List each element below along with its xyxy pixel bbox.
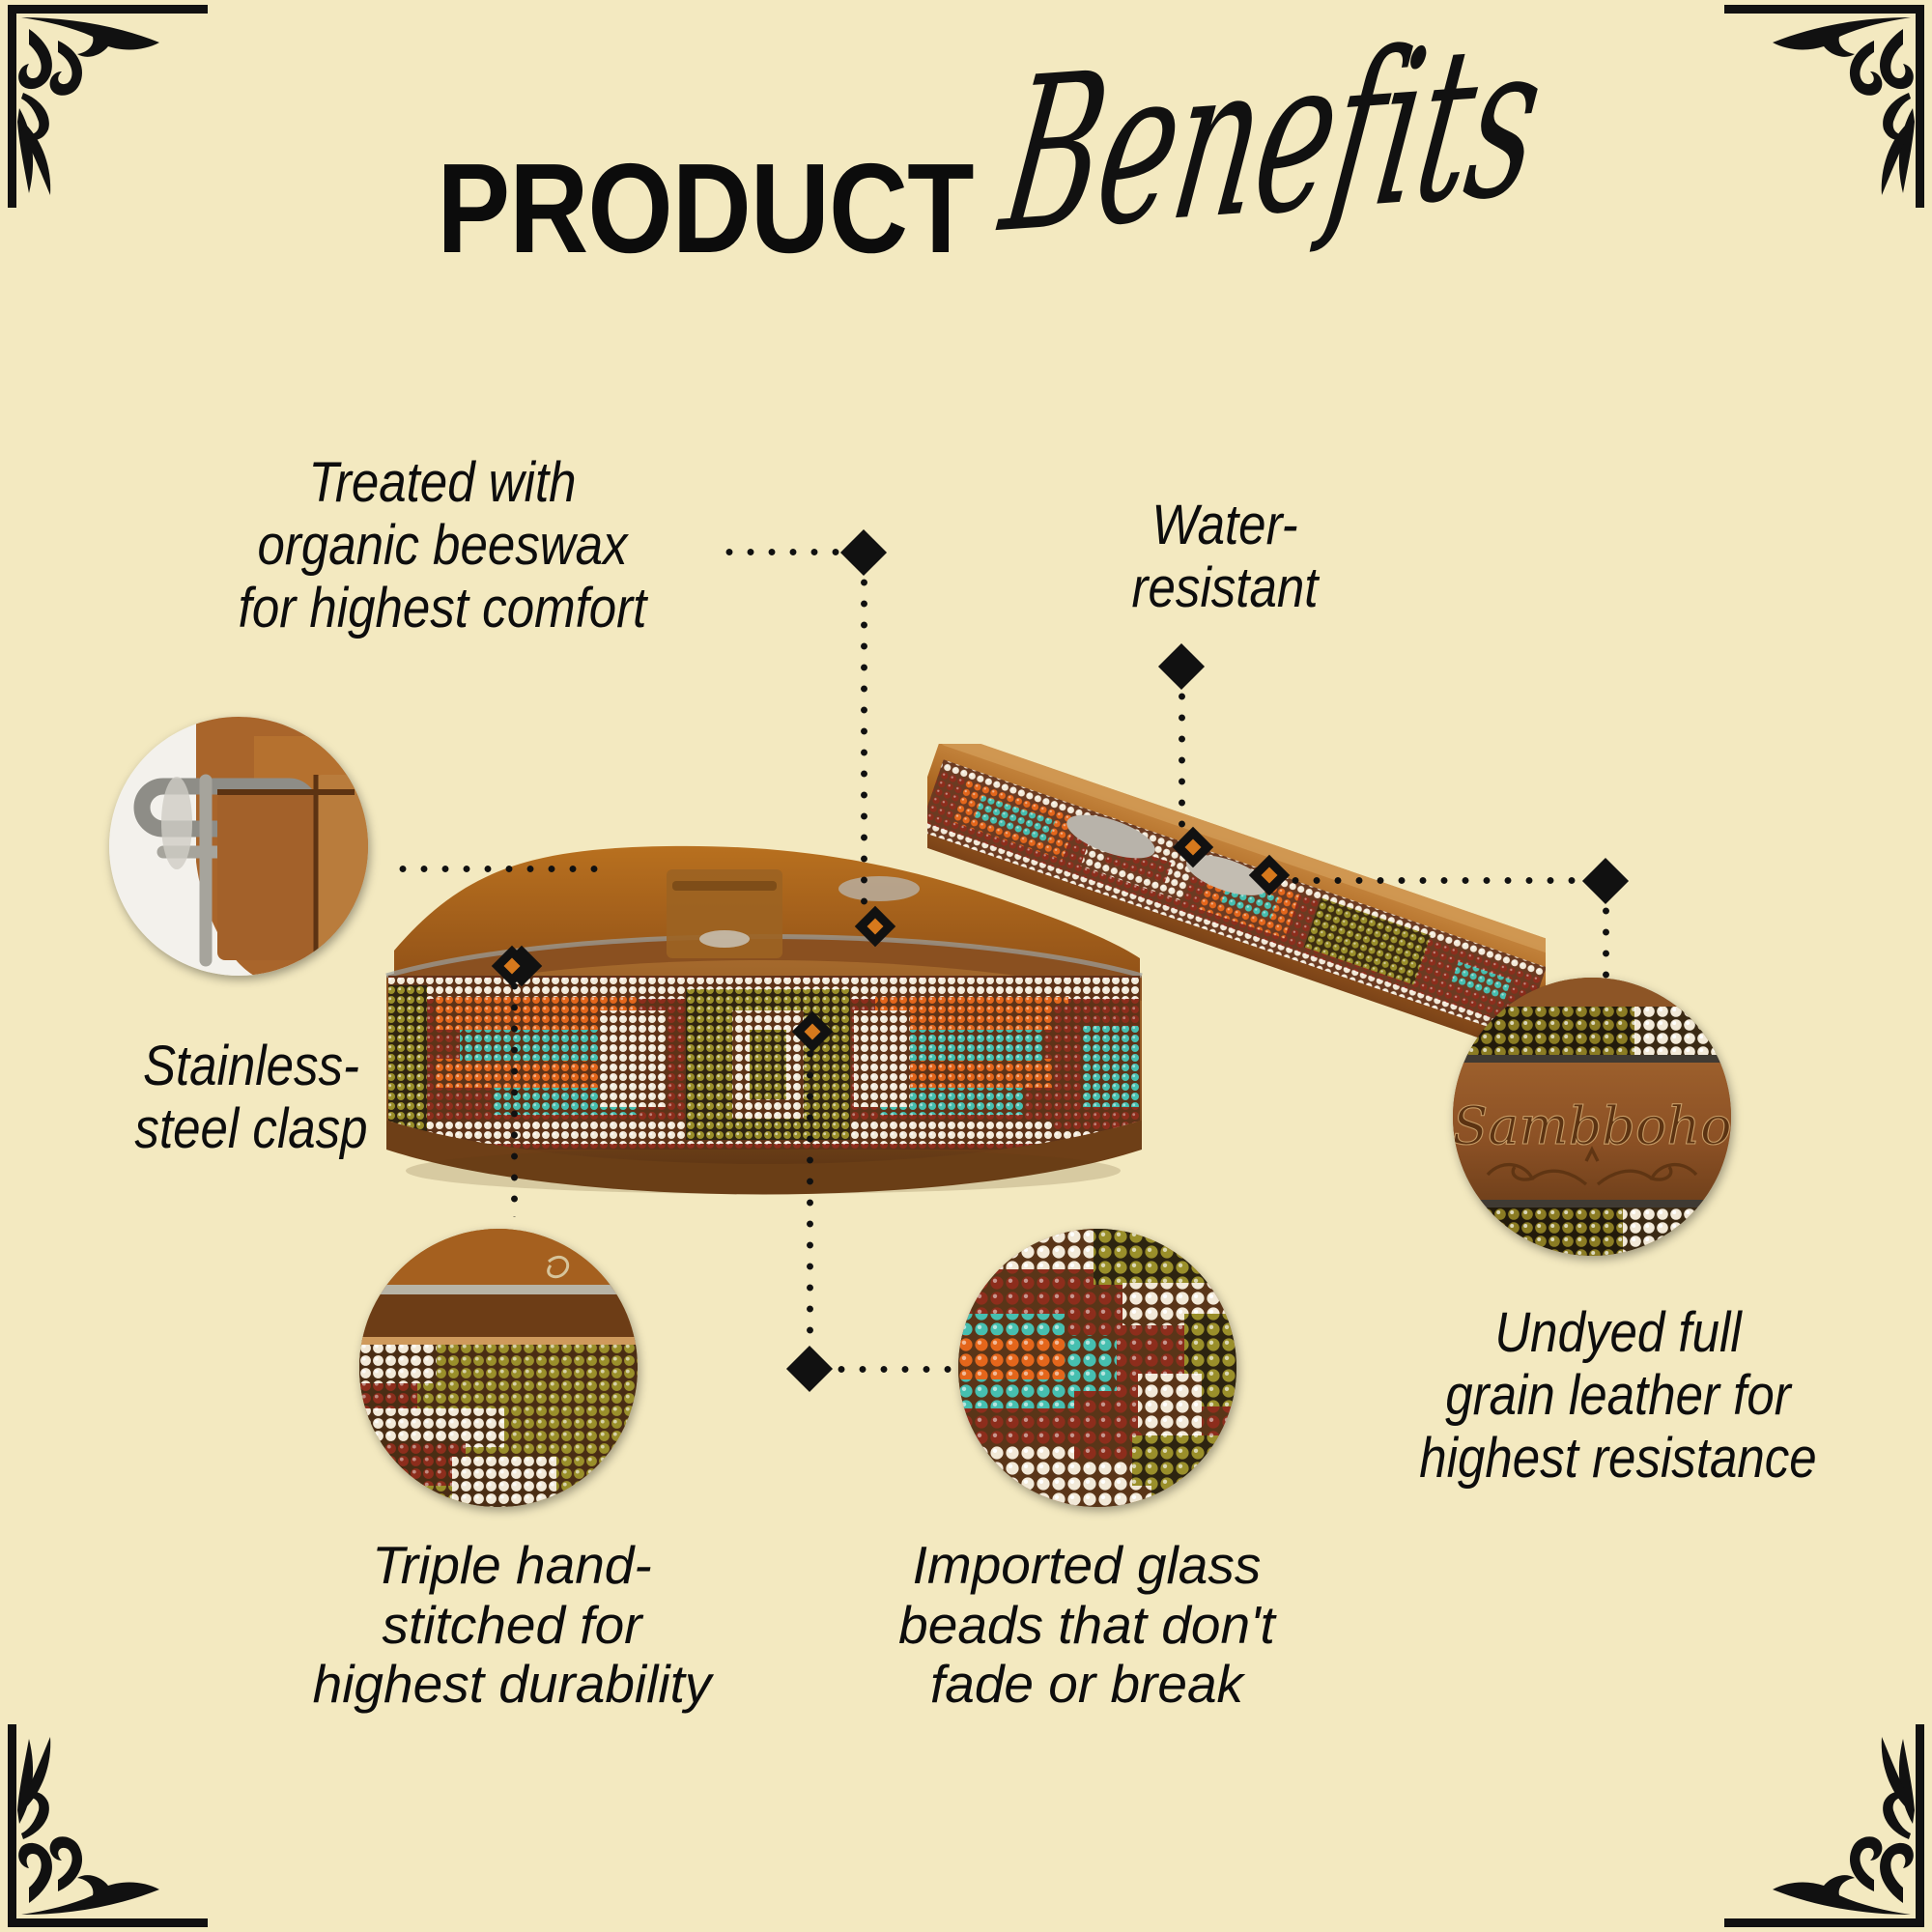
inset-photo-stitching [359,1229,638,1507]
inset-photo-logo: Sambboho [1453,978,1731,1256]
inset-photo-beads [958,1229,1236,1507]
page-title: PRODUCT Benefits [0,145,1932,272]
title-benefits-word: Benefits [994,26,1549,254]
infographic-canvas: PRODUCT Benefits [0,0,1932,1932]
connector-leather-vertical [1601,900,1611,987]
connector-water-marker [1158,643,1205,690]
inset-photo-clasp [109,717,368,976]
connector-stitching-vertical [509,976,520,1217]
callout-imported-glass-beads: Imported glass beads that don't fade or … [845,1536,1328,1715]
callout-stainless-steel-clasp: Stainless- steel clasp [99,1036,405,1161]
connector-beads-horizontal [831,1364,966,1375]
callout-beeswax: Treated with organic beeswax for highest… [221,452,664,640]
connector-leather-marker [1582,858,1629,904]
callout-water-resistant: Water- resistant [1064,495,1386,620]
callout-undyed-full-grain-leather: Undyed full grain leather for highest re… [1367,1302,1868,1491]
callout-triple-hand-stitched: Triple hand- stitched for highest durabi… [251,1536,773,1715]
main-collar-photo [377,831,1150,1236]
connector-beeswax-marker [840,529,887,576]
connector-leather-horizontal [1285,875,1594,886]
title-product-word: PRODUCT [437,145,973,272]
connector-beads-vertical [805,1043,815,1357]
connector-beeswax-vertical [859,572,869,914]
corner-ornament-icon [1724,1724,1932,1932]
connector-clasp-horizontal [392,864,607,874]
connector-water-vertical [1177,686,1187,836]
corner-ornament-icon [0,1724,208,1932]
